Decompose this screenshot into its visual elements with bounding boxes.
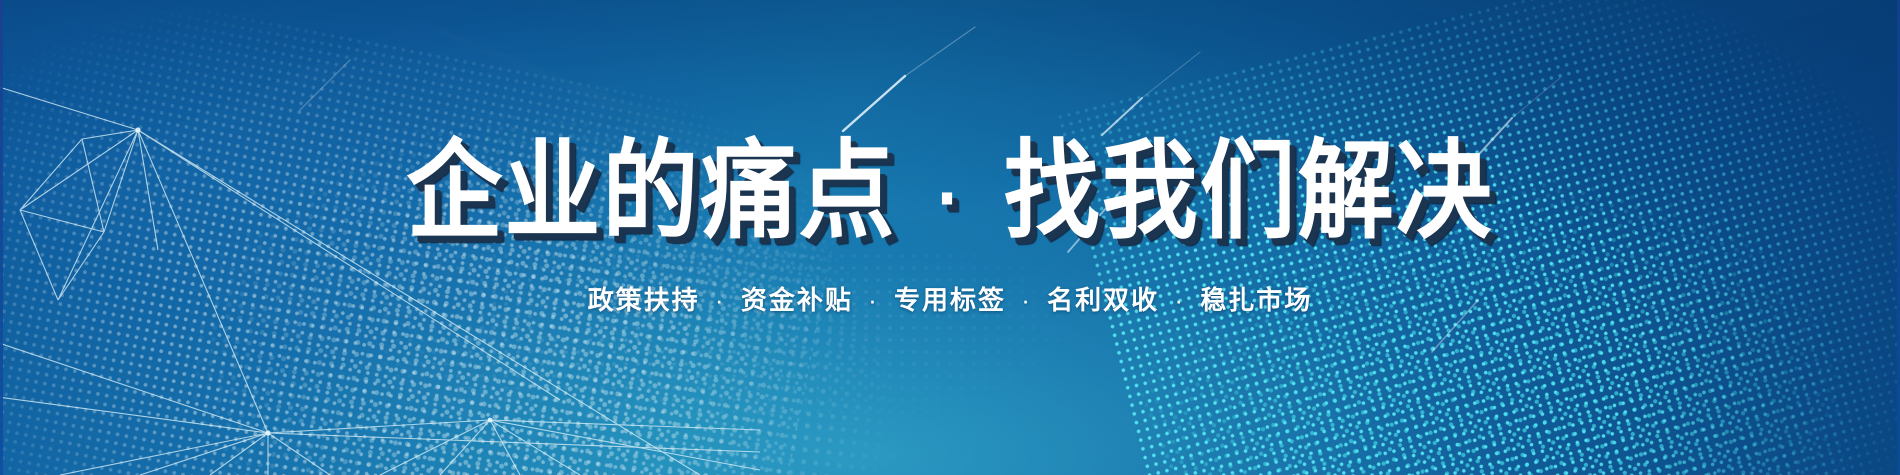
subline-item-2: 资金补贴 xyxy=(741,285,853,315)
subline-item-3: 专用标签 xyxy=(894,285,1006,315)
banner-subline: 政策扶持 · 资金补贴 · 专用标签 · 名利双收 · 稳扎市场 xyxy=(588,280,1313,317)
subline-separator-2: · xyxy=(862,285,885,315)
headline-separator-dot: · xyxy=(925,154,975,244)
subline-separator-4: · xyxy=(1168,285,1191,315)
subline-item-1: 政策扶持 xyxy=(588,285,700,315)
headline-right-part: 找我们解决 xyxy=(1004,132,1494,252)
subline-item-4: 名利双收 xyxy=(1047,285,1159,315)
banner-headline: 企业的痛点 · 找我们解决 xyxy=(406,136,1493,248)
subline-separator-3: · xyxy=(1015,285,1038,315)
promo-banner: 企业的痛点 · 找我们解决 政策扶持 · 资金补贴 · 专用标签 · 名利双收 … xyxy=(0,0,1900,475)
headline-left-part: 企业的痛点 xyxy=(406,132,896,252)
subline-item-5: 稳扎市场 xyxy=(1200,285,1312,315)
subline-separator-1: · xyxy=(709,285,732,315)
banner-content: 企业的痛点 · 找我们解决 政策扶持 · 资金补贴 · 专用标签 · 名利双收 … xyxy=(0,0,1900,475)
